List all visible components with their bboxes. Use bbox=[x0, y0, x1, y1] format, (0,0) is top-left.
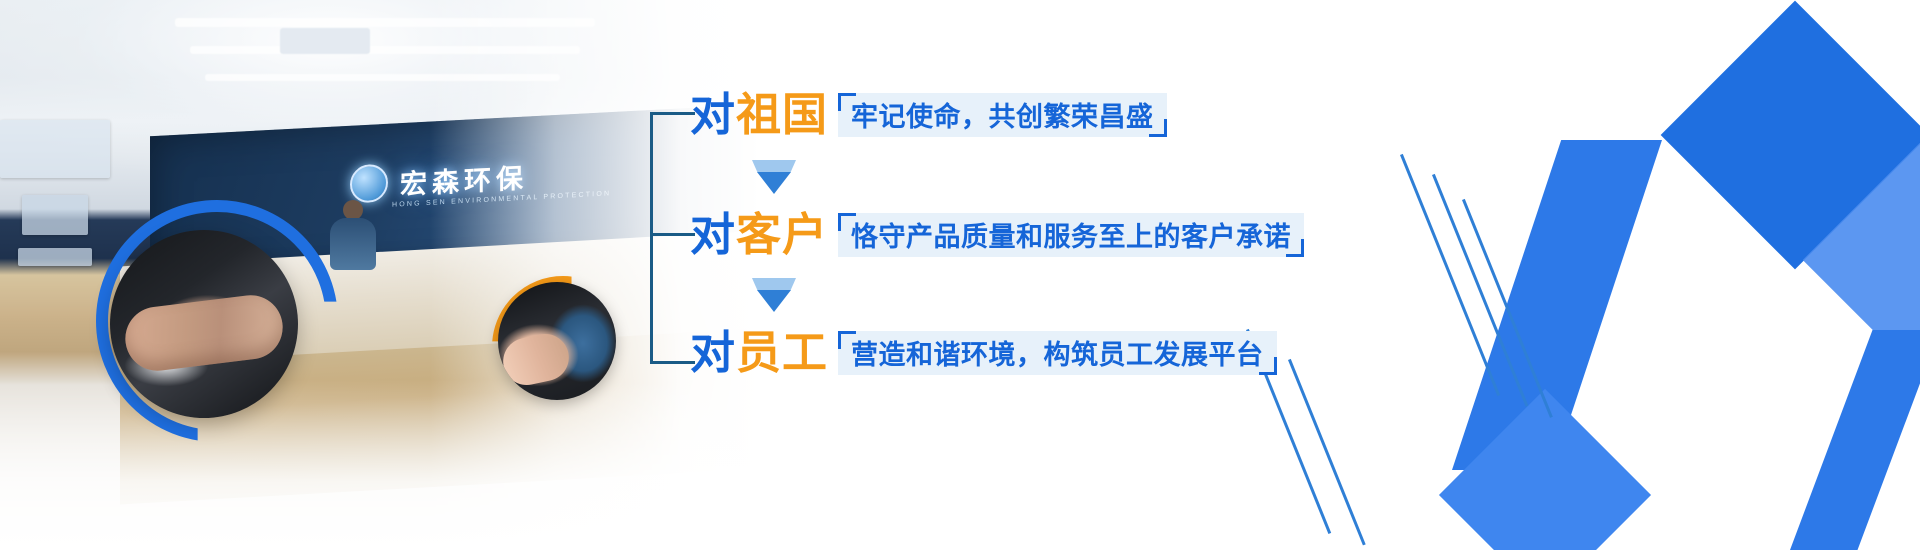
side-panel bbox=[0, 120, 110, 178]
row-customer: 对 客户 恪守产品质量和服务至上的客户承诺 bbox=[690, 212, 1304, 257]
company-logo-icon bbox=[350, 164, 388, 204]
applause-photo-image bbox=[498, 282, 616, 400]
down-arrow-1-bottom bbox=[757, 172, 791, 194]
row-employee: 对 员工 营造和谐环境，构筑员工发展平台 bbox=[690, 330, 1277, 375]
down-arrow-2-top bbox=[752, 278, 796, 290]
down-arrow-1 bbox=[752, 160, 796, 194]
row-country-tag: 牢记使命，共创繁荣昌盛 bbox=[838, 93, 1167, 137]
down-arrow-2 bbox=[752, 278, 796, 312]
handshake-photo-image bbox=[110, 230, 298, 418]
handshake-photo bbox=[110, 230, 298, 418]
bracket-middle-tick bbox=[650, 233, 695, 236]
down-arrow-1-top bbox=[752, 160, 796, 172]
row-employee-tag: 营造和谐环境，构筑员工发展平台 bbox=[838, 331, 1277, 375]
decor-square-right-3 bbox=[1439, 389, 1651, 550]
applause-photo bbox=[498, 282, 616, 400]
row-customer-prefix: 对 bbox=[690, 212, 736, 257]
row-employee-keyword: 员工 bbox=[736, 330, 828, 375]
row-country: 对 祖国 牢记使命，共创繁荣昌盛 bbox=[690, 92, 1167, 137]
row-country-prefix: 对 bbox=[690, 92, 736, 137]
row-customer-tag: 恪守产品质量和服务至上的客户承诺 bbox=[838, 213, 1304, 257]
decor-diagonal-line bbox=[1400, 154, 1500, 396]
decor-parallelogram-right-2 bbox=[1790, 330, 1920, 550]
bracket-connector bbox=[650, 112, 695, 364]
slogan-block: 对 祖国 牢记使命，共创繁荣昌盛 对 客户 恪守产品质量和服务至上的客户承诺 对… bbox=[640, 0, 1400, 550]
receptionist-figure bbox=[330, 200, 376, 270]
side-monitor bbox=[18, 248, 92, 266]
side-monitor bbox=[22, 195, 88, 235]
down-arrow-2-bottom bbox=[757, 290, 791, 312]
ceiling-vent bbox=[280, 28, 370, 54]
row-country-keyword: 祖国 bbox=[736, 92, 828, 137]
row-employee-prefix: 对 bbox=[690, 330, 736, 375]
banner-root: 宏森环保 HONG SEN ENVIRONMENTAL PROTECTION 对 bbox=[0, 0, 1920, 550]
row-customer-keyword: 客户 bbox=[736, 212, 828, 257]
